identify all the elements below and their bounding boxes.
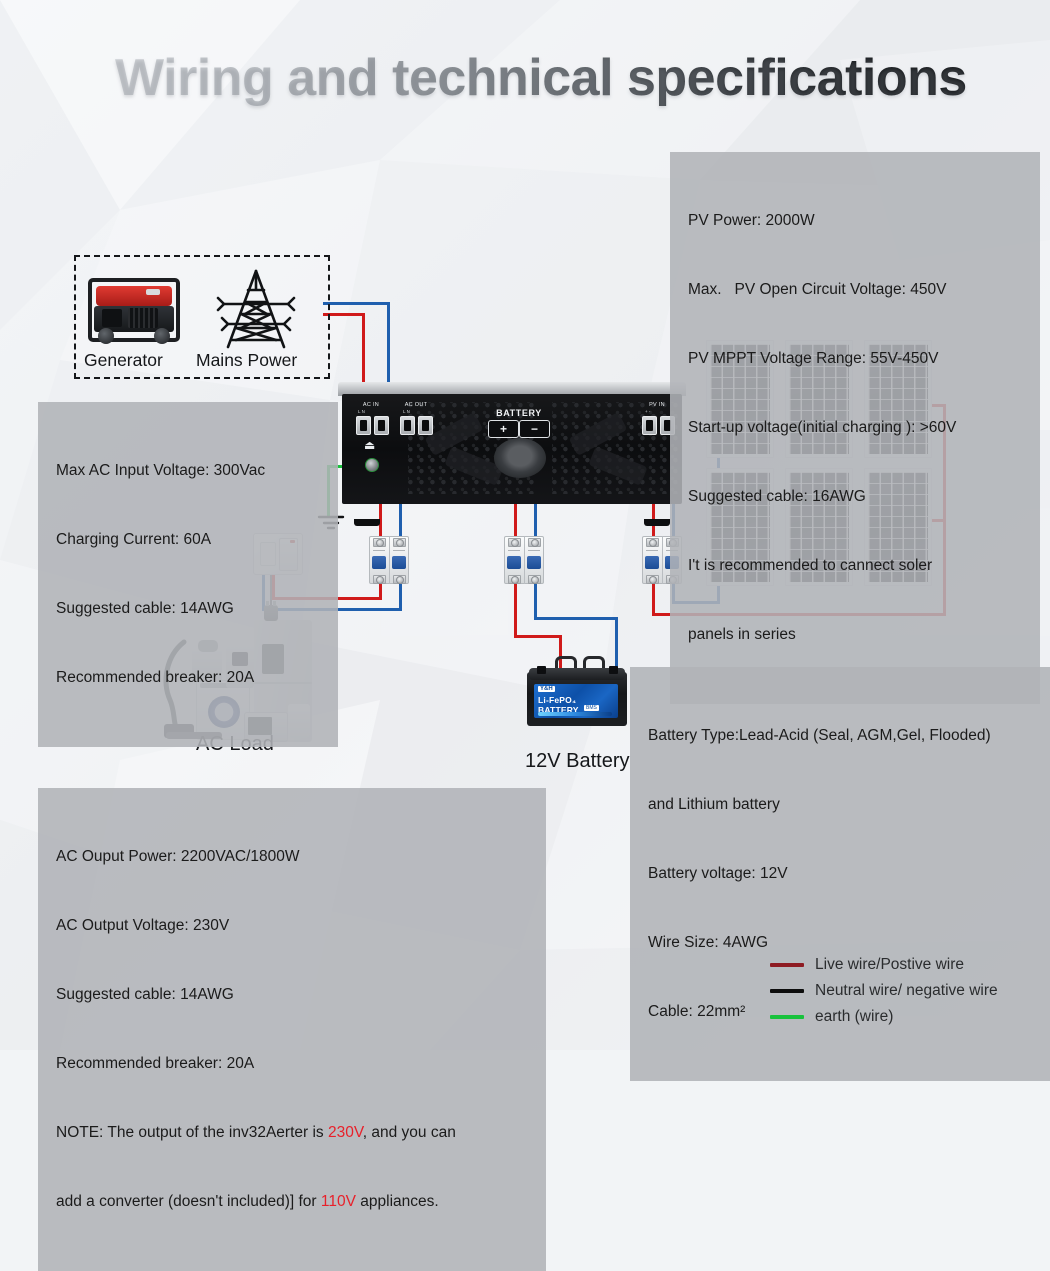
ac-out-label: AC OUT xyxy=(396,402,436,408)
battery-unit: Y&H Li-FePO₄ BATTERY BMS xyxy=(527,664,627,726)
generator-label: Generator xyxy=(84,350,163,371)
wire-color-legend: Live wire/Postive wire Neutral wire/ neg… xyxy=(770,952,998,1030)
legend-label-neutral: Neutral wire/ negative wire xyxy=(815,982,998,1000)
ac-out-live-terminal xyxy=(400,416,415,435)
battery-negative-post xyxy=(609,666,618,674)
wire-battery-pos-h xyxy=(514,635,562,638)
page-title: Wiring and technical specifications xyxy=(115,48,967,108)
battery-caption: 12V Battery xyxy=(525,750,630,773)
pv-specifications-box: PV Power: 2000W Max. PV Open Circuit Vol… xyxy=(670,152,1040,704)
pv-spec-line: Start-up voltage(initial charging ): >60… xyxy=(688,416,1026,439)
ac-input-spec-line: Max AC Input Voltage: 300Vac xyxy=(56,459,324,482)
legend-label-earth: earth (wire) xyxy=(815,1008,893,1026)
wire-battery-pos-v2 xyxy=(514,580,517,638)
battery-positive-post xyxy=(537,666,546,674)
note-text-4: appliances. xyxy=(356,1193,439,1210)
note-text-3: add a converter (doesn't included)] for xyxy=(56,1193,321,1210)
ac-input-spec-line: Charging Current: 60A xyxy=(56,528,324,551)
ac-output-spec-line: Suggested cable: 14AWG xyxy=(56,983,532,1006)
pv-spec-line: I't is recommended to cannect soler xyxy=(688,554,1026,577)
ac-output-specifications-box: AC Ouput Power: 2200VAC/1800W AC Output … xyxy=(38,788,546,1271)
pv-spec-line: Max. PV Open Circuit Voltage: 450V xyxy=(688,278,1026,301)
ac-out-neutral-terminal xyxy=(418,416,433,435)
battery-minus-label: − xyxy=(519,420,550,438)
wire-battery-neg-h xyxy=(534,617,618,620)
legend-swatch-neutral xyxy=(770,989,804,993)
note-voltage-230v: 230V xyxy=(328,1124,363,1141)
ac-output-spec-line: AC Output Voltage: 230V xyxy=(56,914,532,937)
transmission-tower-icon xyxy=(214,268,298,350)
ac-in-neutral-terminal xyxy=(374,416,389,435)
battery-label: Y&H Li-FePO₄ BATTERY BMS xyxy=(534,684,618,718)
wire-pv-pos-v2 xyxy=(652,580,655,616)
battery-port-label: BATTERY xyxy=(486,408,552,418)
note-text-1: NOTE: The output of the inv32Aerter is xyxy=(56,1124,328,1141)
ac-output-spec-line: Recommended breaker: 20A xyxy=(56,1052,532,1075)
legend-swatch-live xyxy=(770,963,804,967)
pv-in-sub-label: + - xyxy=(645,409,650,414)
battery-spec-line: Battery Type:Lead-Acid (Seal, AGM,Gel, F… xyxy=(648,724,1046,747)
ac-output-note-line-1: NOTE: The output of the inv32Aerter is 2… xyxy=(56,1121,532,1144)
battery-plus-label: + xyxy=(488,420,519,438)
diagram-canvas: Wiring and technical specifications xyxy=(0,0,1050,1050)
breaker-battery xyxy=(504,536,544,584)
battery-spec-line: Battery voltage: 12V xyxy=(648,862,1046,885)
wire-outlet-neutral-v1 xyxy=(399,580,402,611)
battery-bms-badge: BMS xyxy=(584,705,599,711)
battery-spec-line: and Lithium battery xyxy=(648,793,1046,816)
ac-out-sub-label: L N xyxy=(403,409,410,414)
pv-spec-line: PV MPPT Voltage Range: 55V-450V xyxy=(688,347,1026,370)
legend-item-earth: earth (wire) xyxy=(770,1004,998,1030)
legend-item-live: Live wire/Postive wire xyxy=(770,952,998,978)
ac-input-spec-line: Suggested cable: 14AWG xyxy=(56,597,324,620)
battery-spec-line: Wire Size: 4AWG xyxy=(648,931,1046,954)
note-voltage-110v: 110V xyxy=(321,1193,356,1210)
wire-ac-in-neutral-h xyxy=(323,302,390,305)
ac-in-label: AC IN xyxy=(352,402,390,408)
battery-brand: Y&H xyxy=(538,686,555,692)
inverter-ground-screw xyxy=(365,458,379,472)
inverter-device: AC IN L N AC OUT L N PV IN + - BATTERY +… xyxy=(338,382,686,520)
ac-in-live-terminal xyxy=(356,416,371,435)
legend-item-neutral: Neutral wire/ negative wire xyxy=(770,978,998,1004)
breaker-ac-output xyxy=(369,536,409,584)
pv-spec-line: Suggested cable: 16AWG xyxy=(688,485,1026,508)
pv-spec-line: PV Power: 2000W xyxy=(688,209,1026,232)
pv-spec-line: panels in series xyxy=(688,623,1026,646)
ac-input-spec-line: Recommended breaker: 20A xyxy=(56,666,324,689)
mains-power-label: Mains Power xyxy=(196,350,297,371)
wire-battery-neg-v2 xyxy=(534,580,537,620)
legend-label-live: Live wire/Postive wire xyxy=(815,956,964,974)
inverter-ground-symbol: ⏏ xyxy=(364,438,375,452)
legend-swatch-earth xyxy=(770,1015,804,1019)
ac-input-specifications-box: Max AC Input Voltage: 300Vac Charging Cu… xyxy=(38,402,338,747)
generator-icon xyxy=(88,278,180,342)
note-text-2: , and you can xyxy=(363,1124,456,1141)
ac-output-spec-line: AC Ouput Power: 2200VAC/1800W xyxy=(56,845,532,868)
ac-output-note-line-2: add a converter (doesn't included)] for … xyxy=(56,1190,532,1213)
battery-cable-grommet xyxy=(494,438,546,478)
pv-in-positive-terminal xyxy=(642,416,657,435)
ac-in-sub-label: L N xyxy=(358,409,365,414)
